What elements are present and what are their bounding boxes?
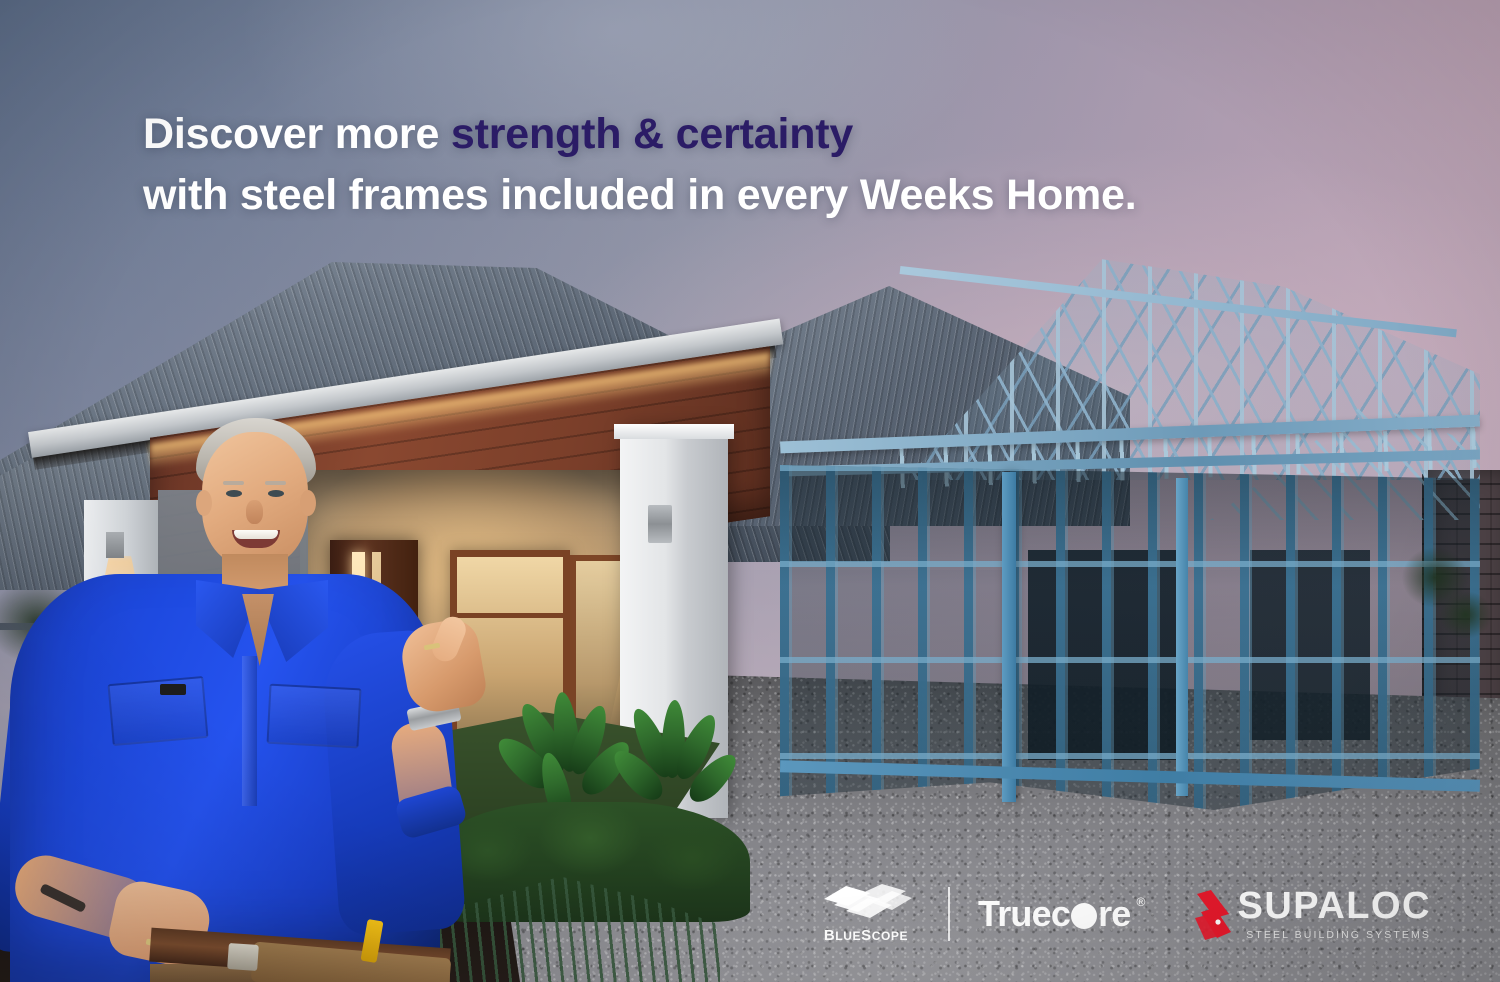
supaloc-red-mark (1195, 888, 1235, 940)
truecore-registered-mark: ® (1136, 895, 1144, 909)
headline-line-1-prefix: Discover more (143, 110, 451, 158)
presenter-eye-right (268, 490, 284, 497)
presenter-figure (0, 404, 470, 982)
wall-noggins (780, 465, 1480, 810)
presenter-eyebrow-right (265, 481, 286, 485)
presenter-eyebrow-left (223, 481, 244, 485)
supaloc-logo: SUPALOC STEEL BUILDING SYSTEMS (1195, 887, 1431, 941)
presenter-teeth (234, 530, 278, 539)
truecore-logo: Truecre® (978, 893, 1145, 935)
truecore-word-suffix: re (1098, 893, 1130, 934)
bluescope-logo: BLUESCOPE (812, 884, 920, 944)
bluescope-word-s: S (861, 927, 872, 944)
advertisement-banner: Discover more strength & certainty with … (0, 0, 1500, 982)
presenter-nose (246, 500, 263, 524)
steel-frame-structure (780, 250, 1480, 810)
headline-accent-text: strength & certainty (451, 110, 853, 158)
shirt-brand-tag (160, 684, 186, 695)
headline: Discover more strength & certainty with … (143, 104, 1373, 226)
supaloc-tagline: STEEL BUILDING SYSTEMS (1246, 929, 1431, 941)
presenter-ear-right (300, 490, 316, 516)
presenter-eye-left (226, 490, 242, 497)
frame-corner-post (1002, 472, 1016, 802)
presenter-shirt-pocket-right (266, 684, 361, 749)
presenter-shirt-pocket-left (107, 676, 208, 746)
bluescope-wordmark: BLUESCOPE (824, 927, 908, 944)
presenter-belt-buckle (227, 943, 259, 971)
headline-line-1: Discover more strength & certainty (143, 104, 1373, 165)
headline-line-2: with steel frames included in every Week… (143, 165, 1373, 226)
wall-light-main (648, 505, 672, 543)
frame-corner-post-2 (1176, 478, 1188, 796)
presenter-shirt-placket (242, 656, 257, 806)
truecore-word-prefix: Truec (978, 893, 1070, 934)
presenter-ear-left (196, 490, 212, 516)
bluescope-word-lue: LUE (835, 929, 861, 943)
bluescope-wave-mark (820, 884, 912, 924)
logo-divider (948, 887, 950, 941)
bluescope-word-b: B (824, 927, 835, 944)
tree-behind-frame (1380, 510, 1490, 660)
bluescope-word-cope: COPE (872, 929, 908, 943)
truecore-o-dot (1071, 903, 1097, 929)
supaloc-wordmark: SUPALOC (1238, 887, 1431, 925)
column-cap (614, 424, 734, 439)
brand-logo-bar: BLUESCOPE Truecre® SUPALOC STEEL BUILDIN… (812, 878, 1431, 950)
supaloc-text-block: SUPALOC STEEL BUILDING SYSTEMS (1238, 887, 1431, 941)
